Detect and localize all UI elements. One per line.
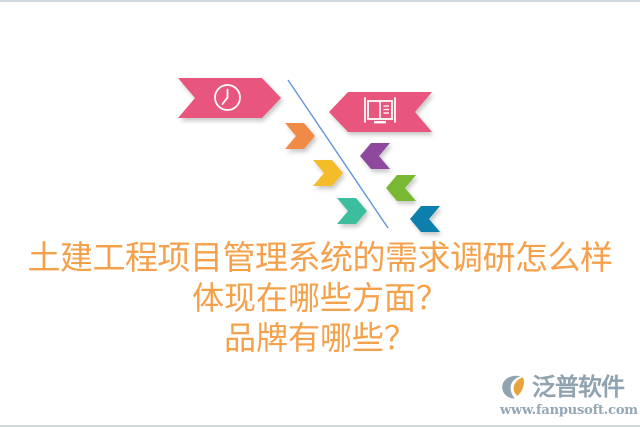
clock-banner [178,78,281,118]
chevron-teal [337,198,367,224]
page-title: 土建工程项目管理系统的需求调研怎么样 体现在哪些方面？ 品牌有哪些？ [0,238,640,358]
infographic-svg [0,2,640,242]
chevron-ribbon-infographic [0,2,640,242]
slide-canvas: 土建工程项目管理系统的需求调研怎么样 体现在哪些方面？ 品牌有哪些？ 泛普软件 … [0,0,640,427]
brand-logo-row: 泛普软件 [500,372,636,402]
chevron-blue [410,206,440,232]
chevron-purple [360,143,390,169]
brand-name: 泛普软件 [532,373,624,401]
chevron-yellow [313,160,343,186]
brand-url: www.fanpusoft.com [500,403,636,419]
headline-line-2: 体现在哪些方面？ [0,278,640,318]
fanpu-logo-icon [500,373,530,401]
chevron-green [386,175,416,201]
headline-line-1: 土建工程项目管理系统的需求调研怎么样 [0,238,640,278]
chevron-orange [285,123,315,149]
headline-line-3: 品牌有哪些？ [0,318,640,358]
clock-banner-shape [178,78,281,118]
brand-watermark: 泛普软件 www.fanpusoft.com [500,372,636,420]
